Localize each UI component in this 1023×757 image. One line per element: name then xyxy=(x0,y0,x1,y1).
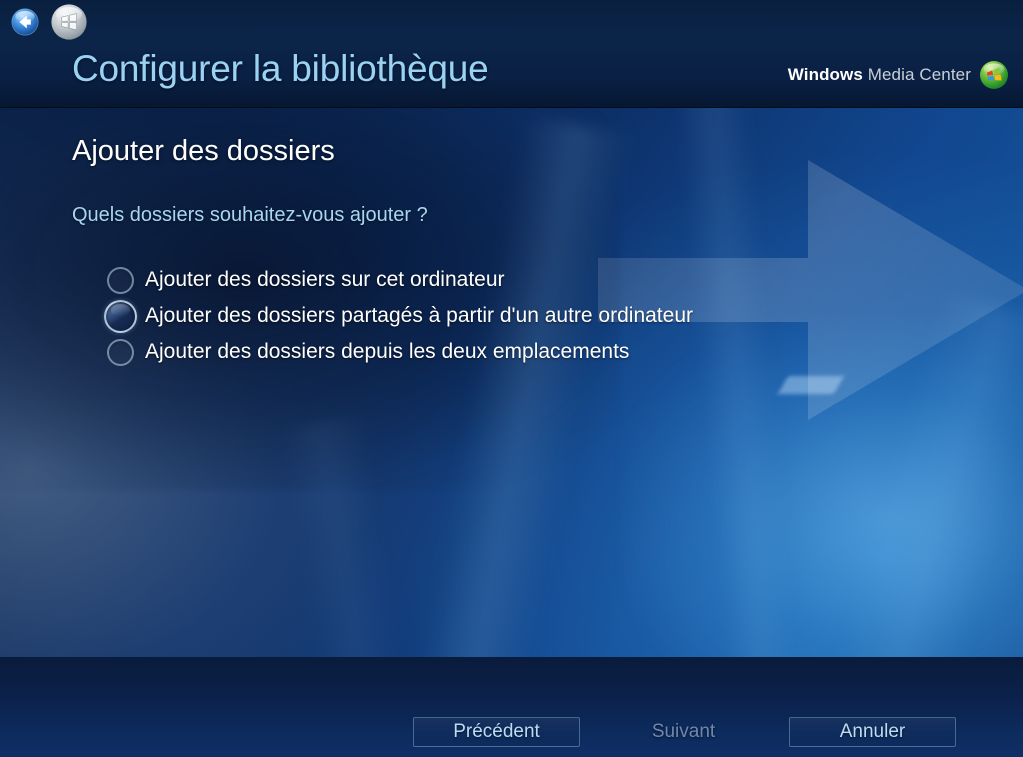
radio-indicator[interactable] xyxy=(107,267,134,294)
radio-option-shared-other-computer[interactable]: Ajouter des dossiers partagés à partir d… xyxy=(104,302,693,330)
brand-logo: Windows Media Center xyxy=(788,60,1009,90)
wizard-footer: Précédent Suivant Annuler xyxy=(0,657,1023,757)
window-header: Configurer la bibliothèque Windows Media… xyxy=(0,0,1023,108)
back-arrow-icon[interactable] xyxy=(11,8,39,36)
brand-text-rest: Media Center xyxy=(863,65,971,84)
section-title: Ajouter des dossiers xyxy=(72,135,335,168)
brand-text: Windows Media Center xyxy=(788,65,971,85)
radio-option-label: Ajouter des dossiers partagés à partir d… xyxy=(145,304,693,328)
radio-option-both-locations[interactable]: Ajouter des dossiers depuis les deux emp… xyxy=(104,338,693,366)
radio-option-label: Ajouter des dossiers sur cet ordinateur xyxy=(145,268,505,292)
wizard-page-content: Ajouter des dossiers Quels dossiers souh… xyxy=(0,108,1023,657)
radio-option-this-computer[interactable]: Ajouter des dossiers sur cet ordinateur xyxy=(104,266,693,294)
section-question: Quels dossiers souhaitez-vous ajouter ? xyxy=(72,204,428,227)
cancel-button[interactable]: Annuler xyxy=(789,717,956,747)
previous-button[interactable]: Précédent xyxy=(413,717,580,747)
folder-source-radio-group: Ajouter des dossiers sur cet ordinateur … xyxy=(104,266,693,366)
radio-option-label: Ajouter des dossiers depuis les deux emp… xyxy=(145,340,629,364)
radio-indicator-selected[interactable] xyxy=(104,300,137,333)
next-button: Suivant xyxy=(600,717,767,747)
wizard-button-bar: Précédent Suivant Annuler xyxy=(0,717,1023,747)
brand-text-bold: Windows xyxy=(788,65,863,84)
windows-media-center-window: Configurer la bibliothèque Windows Media… xyxy=(0,0,1023,757)
radio-indicator[interactable] xyxy=(107,339,134,366)
windows-media-center-orb-icon xyxy=(979,60,1009,90)
windows-start-orb-icon[interactable] xyxy=(50,3,88,41)
page-title: Configurer la bibliothèque xyxy=(72,48,488,90)
